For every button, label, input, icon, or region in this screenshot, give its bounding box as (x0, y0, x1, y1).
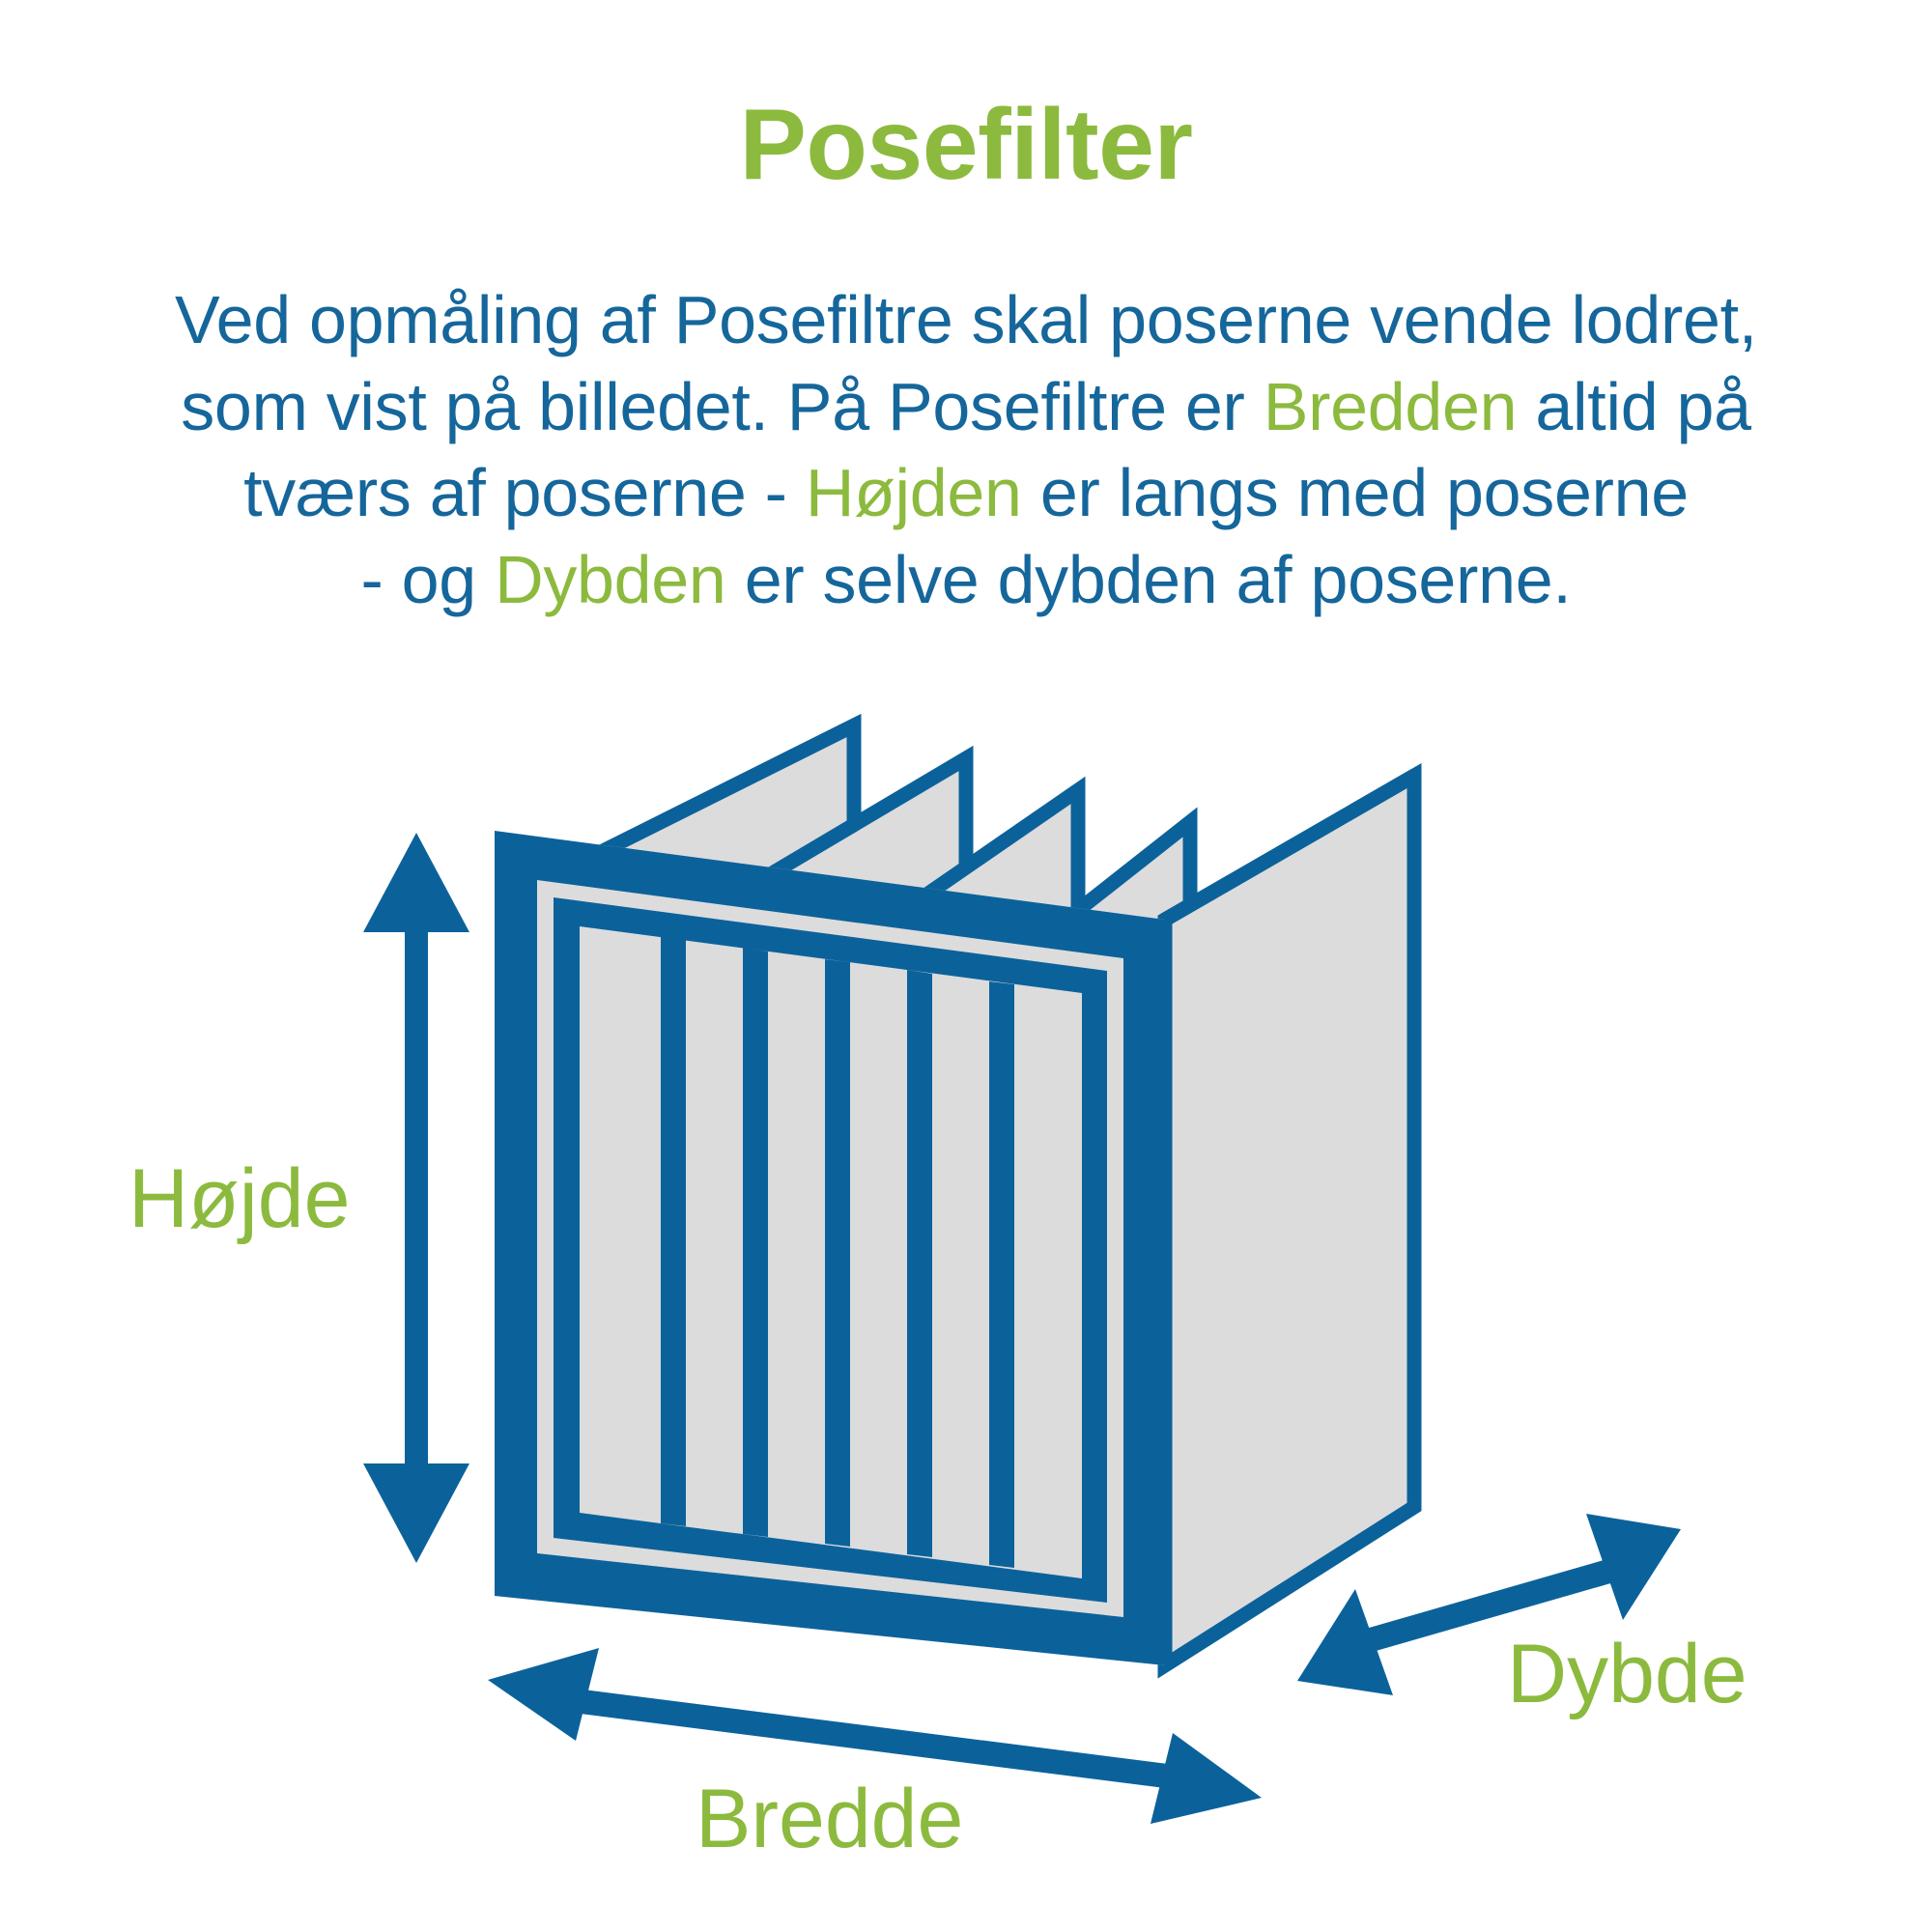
front-divider-2 (743, 948, 768, 1537)
height-arrow (363, 833, 469, 1563)
height-arrow-shaft (405, 869, 428, 1526)
height-arrow-head-up (363, 833, 469, 932)
dimension-label-height: Højde (128, 1157, 350, 1240)
height-arrow-head-down (363, 1463, 469, 1563)
front-divider-4 (907, 970, 932, 1557)
front-divider-1 (661, 937, 686, 1526)
dimension-label-depth: Dybde (1507, 1633, 1747, 1716)
filter-side-panel (1165, 776, 1414, 1665)
front-divider-3 (825, 959, 850, 1547)
width-arrow-head-left (488, 1648, 599, 1741)
width-arrow-head-right (1151, 1733, 1262, 1824)
front-divider-5 (989, 981, 1014, 1568)
dimension-label-width: Bredde (696, 1777, 963, 1861)
poster-root: Posefilter Ved opmåling af Posefiltre sk… (0, 0, 1932, 1932)
